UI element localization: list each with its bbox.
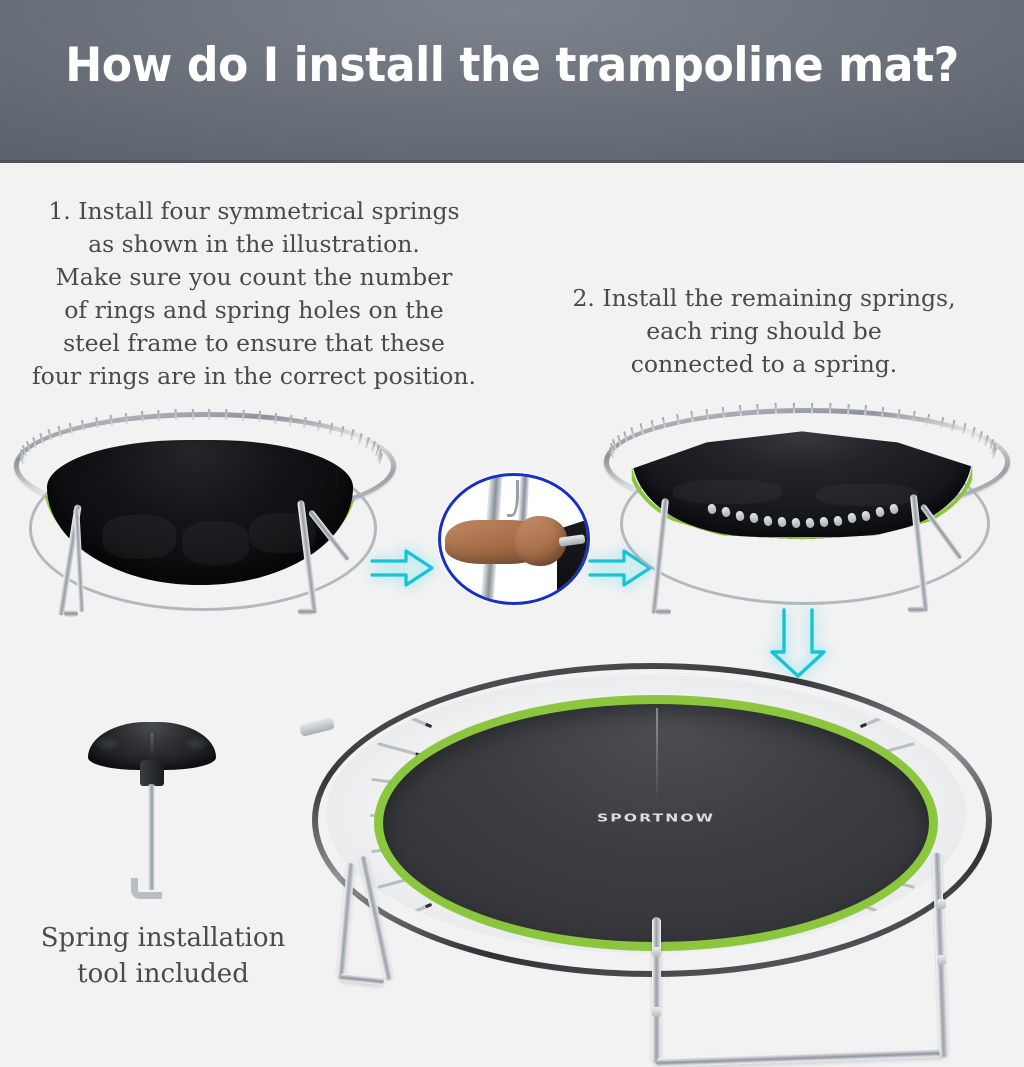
tool-caption: Spring installation tool included	[8, 920, 318, 992]
tool-shaft	[148, 784, 155, 890]
leg-foot	[298, 608, 314, 615]
spring	[846, 675, 888, 701]
frame-hook-icon	[739, 405, 742, 416]
header-banner: How do I install the trampoline mat?	[0, 0, 1024, 163]
spring	[829, 675, 869, 676]
tool-handle-wing	[96, 736, 122, 751]
spring	[404, 675, 446, 701]
step-2-trampoline-illustration	[604, 408, 1000, 620]
spring-hook-detail-inset	[438, 473, 590, 605]
frame-hook-icon	[507, 480, 519, 517]
frame-hook-icon	[793, 403, 795, 414]
leg-joint	[937, 955, 946, 965]
mat-fold	[816, 484, 918, 506]
frame-hook-icon	[811, 403, 813, 414]
frame-hook-icon	[141, 411, 144, 422]
leg-foot	[656, 608, 671, 615]
page-title: How do I install the trampoline mat?	[31, 38, 994, 93]
spring	[423, 675, 463, 676]
mat-fold	[182, 521, 249, 565]
frame-hook-icon	[191, 409, 193, 420]
tool-hook-tip	[131, 878, 162, 899]
leg-foot	[64, 610, 78, 617]
main-trampoline-illustration: SPORTNOW	[300, 655, 1012, 1007]
tool-collar	[140, 760, 164, 786]
tool-handle-wing	[182, 736, 208, 751]
leg-foot-bar	[340, 973, 385, 986]
mat-seam	[656, 708, 658, 804]
frame-clip	[299, 717, 335, 737]
mat-fold	[673, 480, 782, 504]
leg-foot-bar	[656, 1048, 944, 1067]
infographic-canvas: How do I install the trampoline mat? 1. …	[0, 0, 1024, 1024]
step-1-trampoline-illustration	[14, 412, 386, 626]
leg-joint	[652, 947, 661, 957]
main-mat: SPORTNOW	[374, 695, 938, 951]
step-2-instructions: 2. Install the remaining springs, each r…	[530, 282, 998, 381]
mat-fold	[102, 515, 175, 559]
frame-hook-icon	[174, 409, 176, 420]
leg-foot	[908, 606, 924, 613]
spring-installation-tool	[88, 722, 216, 900]
leg-joint	[937, 899, 946, 909]
arrow-step1-to-detail-icon	[370, 547, 436, 589]
frame-hook-icon	[157, 410, 160, 421]
frame-hook-icon	[775, 403, 777, 414]
step-1-instructions: 1. Install four symmetrical springs as s…	[6, 195, 502, 393]
trampoline-leg	[652, 917, 661, 1063]
brand-logo: SPORTNOW	[372, 812, 940, 824]
leg-joint	[652, 1007, 661, 1017]
